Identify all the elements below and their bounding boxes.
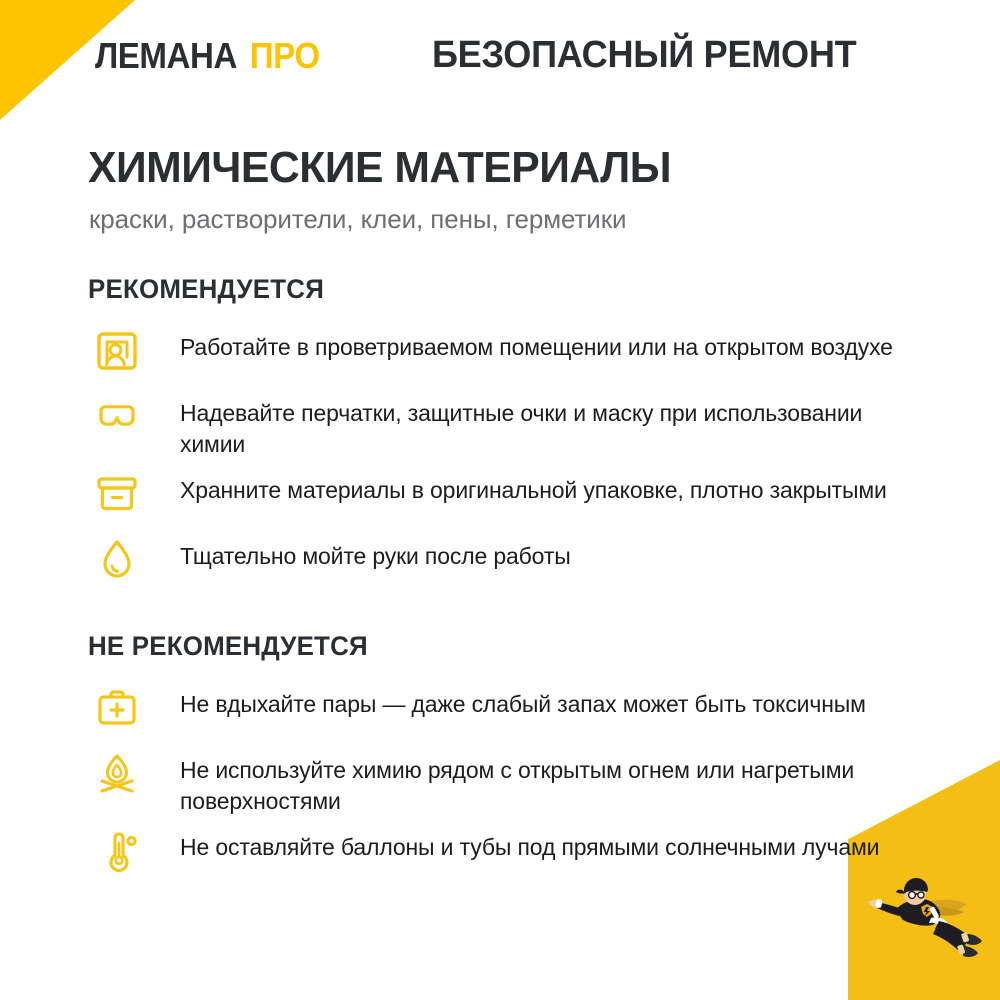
person-in-window-icon [88, 326, 146, 384]
safety-goggles-icon [88, 392, 146, 450]
list-item-text: Работайте в проветриваемом помещении или… [146, 326, 918, 363]
list-item: Надевайте перчатки, защитные очки и маск… [88, 392, 918, 461]
section-heading-recommended: РЕКОМЕНДУЕТСЯ [88, 276, 324, 303]
list-item: Не вдыхайте пары — даже слабый запах мож… [88, 683, 918, 741]
brand-logo-accent: ПРО [250, 38, 320, 74]
page-title: ХИМИЧЕСКИЕ МАТЕРИАЛЫ [88, 145, 671, 191]
list-item-text: Тщательно мойте руки после работы [146, 535, 918, 572]
list-item: Не оставляйте баллоны и тубы под прямыми… [88, 826, 918, 884]
poster-header: ЛЕМАНА ПРО БЕЗОПАСНЫЙ РЕМОНТ [0, 38, 1000, 94]
brand-logo-main: ЛЕМАНА [95, 38, 237, 74]
section-heading-not-recommended: НЕ РЕКОМЕНДУЕТСЯ [88, 633, 368, 660]
list-item: Не используйте химию рядом с открытым ог… [88, 749, 918, 818]
brand-logo: ЛЕМАНА ПРО [95, 38, 320, 74]
list-item-text: Надевайте перчатки, защитные очки и маск… [146, 392, 918, 461]
list-item-text: Не используйте химию рядом с открытым ог… [146, 749, 918, 818]
campaign-title: БЕЗОПАСНЫЙ РЕМОНТ [432, 36, 856, 74]
storage-box-icon [88, 469, 146, 527]
not-recommended-list: Не вдыхайте пары — даже слабый запах мож… [88, 683, 918, 892]
recommended-list: Работайте в проветриваемом помещении или… [88, 326, 918, 601]
poster-canvas: ЛЕМАНА ПРО БЕЗОПАСНЫЙ РЕМОНТ ХИМИЧЕСКИЕ … [0, 0, 1000, 1000]
list-item: Тщательно мойте руки после работы [88, 535, 918, 593]
first-aid-kit-icon [88, 683, 146, 741]
page-subtitle: краски, растворители, клеи, пены, гермет… [89, 204, 626, 235]
thermometer-sun-icon [88, 826, 146, 884]
list-item: Работайте в проветриваемом помещении или… [88, 326, 918, 384]
list-item-text: Не вдыхайте пары — даже слабый запах мож… [146, 683, 918, 720]
list-item-text: Не оставляйте баллоны и тубы под прямыми… [146, 826, 918, 863]
water-drop-icon [88, 535, 146, 593]
list-item: Хранните материалы в оригинальной упаков… [88, 469, 918, 527]
flying-superhero-mascot [855, 866, 990, 976]
list-item-text: Хранните материалы в оригинальной упаков… [146, 469, 918, 506]
campfire-icon [88, 749, 146, 807]
